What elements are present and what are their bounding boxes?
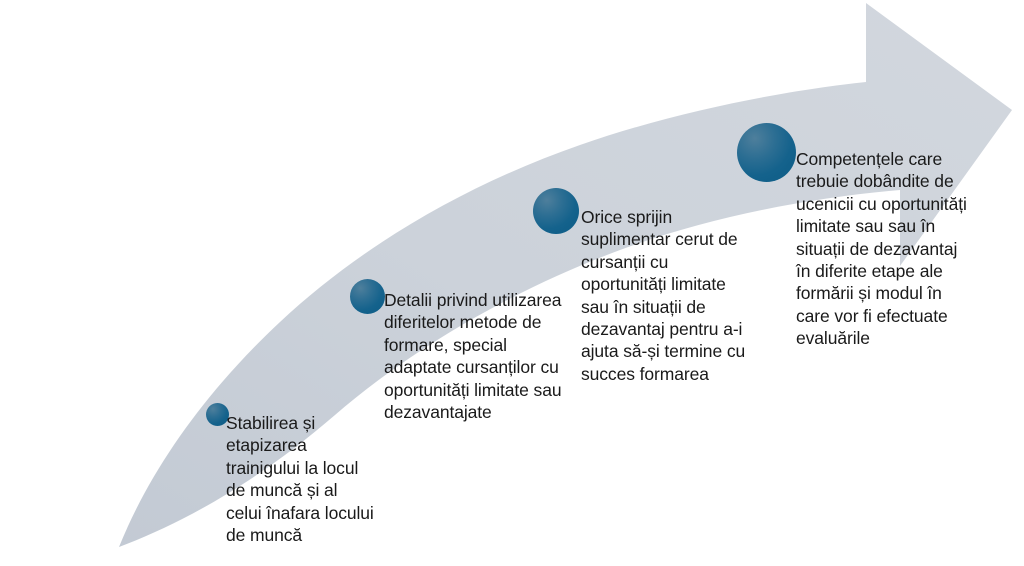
stage-label-4: Competențele care trebuie dobândite de u… xyxy=(796,148,971,350)
stage-bullet-2 xyxy=(350,279,385,314)
diagram-canvas: Stabilirea și etapizarea trainigului la … xyxy=(0,0,1024,566)
stage-label-2: Detalii privind utilizarea diferitelor m… xyxy=(384,289,564,423)
stage-bullet-3 xyxy=(533,188,579,234)
stage-label-3: Orice sprijin suplimentar cerut de cursa… xyxy=(581,206,749,385)
stage-bullet-4 xyxy=(737,123,796,182)
stage-label-1: Stabilirea și etapizarea trainigului la … xyxy=(226,412,376,546)
